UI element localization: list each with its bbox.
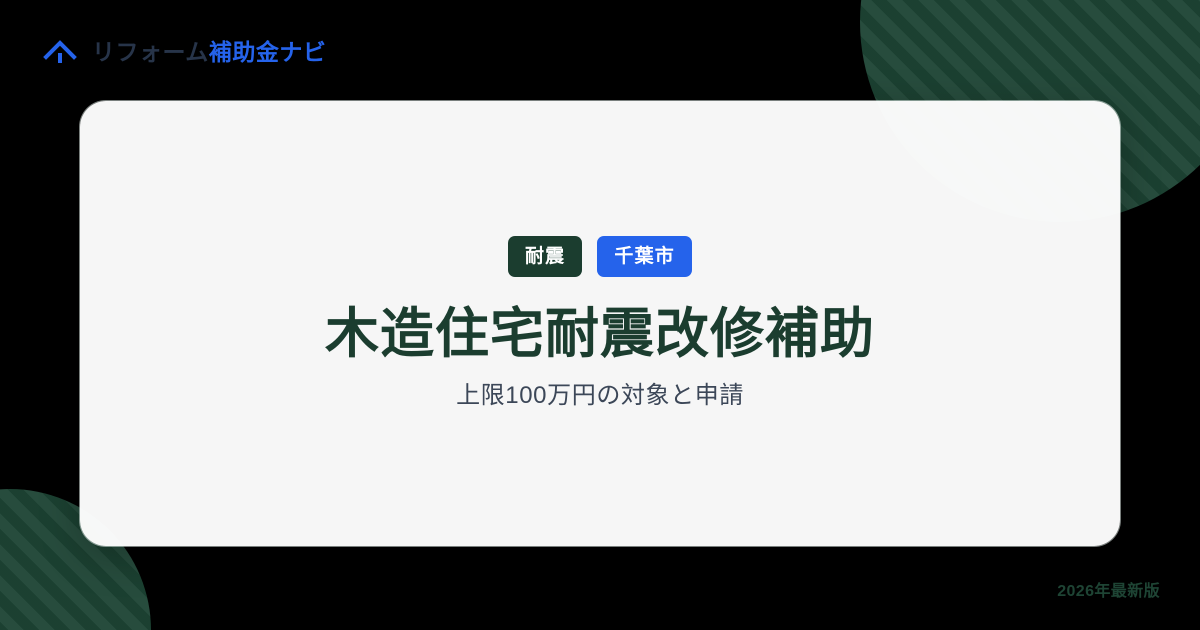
hero-card: 耐震 千葉市 木造住宅耐震改修補助 上限100万円の対象と申請	[80, 101, 1120, 546]
brand-logo[interactable]: リフォーム補助金ナビ	[40, 30, 326, 74]
brand-name-primary: リフォーム	[92, 39, 209, 65]
edition-note: 2026年最新版	[1057, 584, 1160, 600]
badge-category[interactable]: 耐震	[508, 236, 582, 277]
brand-name: リフォーム補助金ナビ	[92, 41, 326, 64]
brand-name-accent: 補助金ナビ	[209, 39, 327, 65]
badge-group: 耐震 千葉市	[508, 236, 692, 277]
roof-arrow-up-icon	[40, 32, 80, 72]
og-image-canvas: リフォーム補助金ナビ 耐震 千葉市 木造住宅耐震改修補助 上限100万円の対象と…	[0, 0, 1200, 630]
page-title: 木造住宅耐震改修補助	[325, 303, 875, 366]
page-subtitle: 上限100万円の対象と申請	[456, 380, 744, 411]
badge-area[interactable]: 千葉市	[597, 236, 692, 277]
